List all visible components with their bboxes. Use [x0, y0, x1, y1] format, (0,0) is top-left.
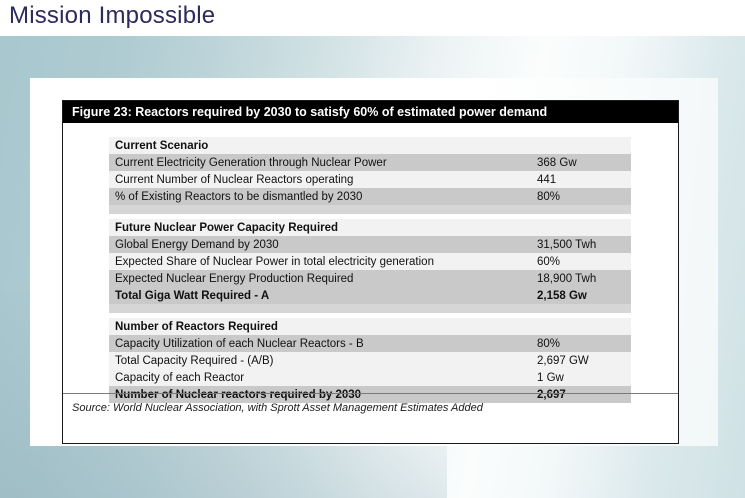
row-label: Total Giga Watt Required - A — [109, 287, 531, 304]
reactor-requirements-table: Current ScenarioCurrent Electricity Gene… — [109, 137, 631, 403]
spacer-value-cell — [531, 304, 631, 313]
slide-title: Mission Impossible — [9, 0, 215, 32]
row-label: Number of Nuclear reactors required by 2… — [109, 386, 531, 403]
section-heading-label: Current Scenario — [109, 137, 531, 154]
table-section-spacer — [109, 205, 631, 214]
figure-header-title: Figure 23: Reactors required by 2030 to … — [63, 101, 678, 123]
row-label: Total Capacity Required - (A/B) — [109, 352, 531, 369]
table-row: Total Giga Watt Required - A2,158 Gw — [109, 287, 631, 304]
row-label: Capacity Utilization of each Nuclear Rea… — [109, 335, 531, 352]
figure-box: Figure 23: Reactors required by 2030 to … — [62, 100, 679, 444]
table-row: Current Number of Nuclear Reactors opera… — [109, 171, 631, 188]
table-row: Number of Nuclear reactors required by 2… — [109, 386, 631, 403]
row-value: 18,900 Twh — [531, 270, 631, 287]
table-row: Capacity of each Reactor1 Gw — [109, 369, 631, 386]
table-row: Capacity Utilization of each Nuclear Rea… — [109, 335, 631, 352]
row-label: Global Energy Demand by 2030 — [109, 236, 531, 253]
row-label: Current Electricity Generation through N… — [109, 154, 531, 171]
table-row: Expected Nuclear Energy Production Requi… — [109, 270, 631, 287]
section-heading-value — [531, 318, 631, 335]
section-heading-value — [531, 219, 631, 236]
row-label: Capacity of each Reactor — [109, 369, 531, 386]
figure-body: Current ScenarioCurrent Electricity Gene… — [63, 123, 678, 419]
table-row: Total Capacity Required - (A/B)2,697 GW — [109, 352, 631, 369]
spacer-label-cell — [109, 205, 531, 214]
row-label: % of Existing Reactors to be dismantled … — [109, 188, 531, 205]
spacer-label-cell — [109, 304, 531, 313]
source-note: Source: World Nuclear Association, with … — [72, 402, 483, 414]
table-row: Current Electricity Generation through N… — [109, 154, 631, 171]
row-label: Expected Nuclear Energy Production Requi… — [109, 270, 531, 287]
table-section-heading: Future Nuclear Power Capacity Required — [109, 219, 631, 236]
row-label: Expected Share of Nuclear Power in total… — [109, 253, 531, 270]
row-label: Current Number of Nuclear Reactors opera… — [109, 171, 531, 188]
table-row: Expected Share of Nuclear Power in total… — [109, 253, 631, 270]
table-section-heading: Current Scenario — [109, 137, 631, 154]
row-value: 80% — [531, 188, 631, 205]
section-heading-label: Future Nuclear Power Capacity Required — [109, 219, 531, 236]
source-divider — [63, 393, 678, 394]
row-value: 1 Gw — [531, 369, 631, 386]
row-value: 31,500 Twh — [531, 236, 631, 253]
spacer-value-cell — [531, 205, 631, 214]
row-value: 2,697 — [531, 386, 631, 403]
section-heading-value — [531, 137, 631, 154]
table-row: % of Existing Reactors to be dismantled … — [109, 188, 631, 205]
table-row: Global Energy Demand by 203031,500 Twh — [109, 236, 631, 253]
row-value: 2,697 GW — [531, 352, 631, 369]
row-value: 60% — [531, 253, 631, 270]
section-heading-label: Number of Reactors Required — [109, 318, 531, 335]
table-section-spacer — [109, 304, 631, 313]
row-value: 441 — [531, 171, 631, 188]
table-section-heading: Number of Reactors Required — [109, 318, 631, 335]
row-value: 368 Gw — [531, 154, 631, 171]
row-value: 2,158 Gw — [531, 287, 631, 304]
row-value: 80% — [531, 335, 631, 352]
